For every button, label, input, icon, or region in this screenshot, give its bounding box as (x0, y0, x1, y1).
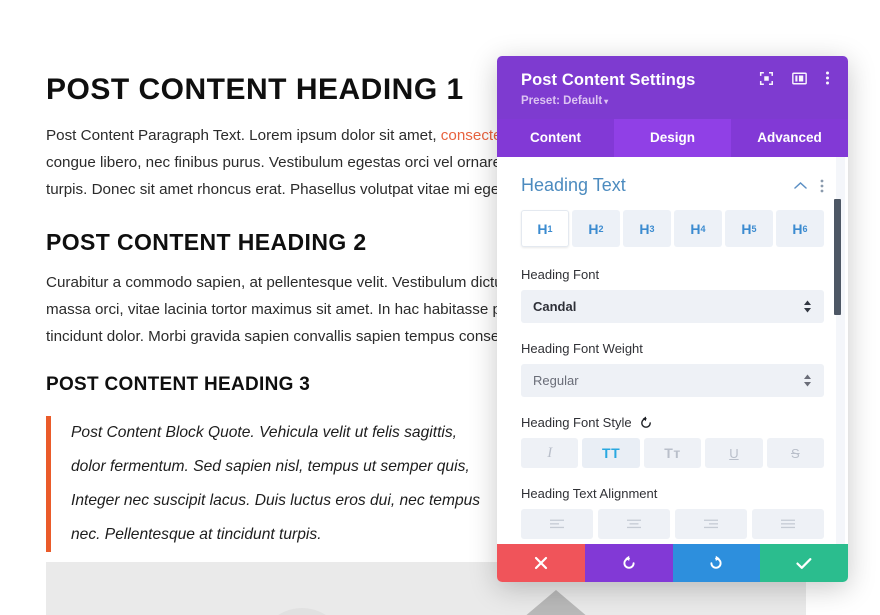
modal-preset-label: Preset: Default (521, 95, 602, 107)
heading-level-h1-button[interactable]: H1 (521, 210, 569, 247)
heading-text-alignment-label: Heading Text Alignment (521, 486, 824, 501)
heading-font-weight-field: Heading Font Weight Regular (521, 341, 824, 397)
tab-advanced[interactable]: Advanced (731, 119, 848, 157)
modal-preset-selector[interactable]: Preset: Default▾ (521, 94, 826, 109)
align-right-icon (703, 519, 719, 530)
heading-font-value: Candal (533, 299, 803, 314)
save-button[interactable] (760, 544, 848, 582)
heading-font-style-label: Heading Font Style (521, 415, 824, 430)
heading-font-weight-value: Regular (533, 373, 803, 388)
heading-font-style-group: I TT Tᴛ U S (521, 438, 824, 468)
section-more-vertical-icon[interactable] (820, 179, 824, 193)
chevron-down-icon: ▾ (604, 97, 608, 106)
paragraph-text-part: Post Content Paragraph Text. Lorem ipsum… (46, 127, 441, 144)
h6-label: H (792, 221, 802, 237)
undo-button[interactable] (585, 544, 673, 582)
heading-text-alignment-field: Heading Text Alignment (521, 486, 824, 539)
redo-button[interactable] (673, 544, 761, 582)
align-center-button[interactable] (598, 509, 670, 539)
section-heading-text: Heading Text (521, 157, 824, 210)
h3-label: H (639, 221, 649, 237)
uppercase-button[interactable]: TT (582, 438, 639, 468)
italic-button[interactable]: I (521, 438, 578, 468)
tab-design[interactable]: Design (614, 119, 731, 157)
heading-level-toggle-group: H1 H2 H3 H4 H5 H6 (521, 210, 824, 247)
h1-label: H (537, 221, 547, 237)
heading-font-field: Heading Font Candal (521, 267, 824, 323)
align-left-icon (549, 519, 565, 530)
cancel-button[interactable] (497, 544, 585, 582)
layout-columns-icon[interactable] (792, 71, 807, 86)
check-icon (796, 557, 812, 570)
screen-root: Post Content Heading 1 Post Content Para… (0, 0, 880, 615)
align-right-button[interactable] (675, 509, 747, 539)
align-justify-icon (780, 519, 796, 530)
placeholder-sun-icon (258, 608, 346, 615)
modal-scrollbar-thumb[interactable] (834, 199, 841, 315)
undo-icon (621, 555, 637, 571)
h6-sub: 6 (803, 224, 808, 234)
modal-body: Heading Text H1 H2 H3 H4 (497, 157, 848, 544)
modal-footer-actions (497, 544, 848, 582)
select-spinner-icon (803, 300, 812, 313)
h4-label: H (690, 221, 700, 237)
redo-icon (708, 555, 724, 571)
small-caps-button[interactable]: Tᴛ (644, 438, 701, 468)
section-title: Heading Text (521, 175, 794, 196)
h3-sub: 3 (650, 224, 655, 234)
section-controls (794, 179, 824, 193)
heading-font-label: Heading Font (521, 267, 824, 282)
heading-font-weight-select[interactable]: Regular (521, 364, 824, 397)
align-center-icon (626, 519, 642, 530)
modal-scrollbar-track[interactable] (836, 157, 845, 544)
placeholder-mountain-icon (426, 590, 686, 615)
heading-level-h5-button[interactable]: H5 (725, 210, 773, 247)
close-icon (534, 556, 548, 570)
heading-level-h2-button[interactable]: H2 (572, 210, 620, 247)
h5-sub: 5 (752, 224, 757, 234)
reset-icon[interactable] (639, 416, 653, 430)
tab-content[interactable]: Content (497, 119, 614, 157)
select-spinner-icon (803, 374, 812, 387)
h2-sub: 2 (599, 224, 604, 234)
h2-label: H (588, 221, 598, 237)
underline-button[interactable]: U (705, 438, 762, 468)
align-justify-button[interactable] (752, 509, 824, 539)
modal-header: Post Content Settings Preset: Default▾ (497, 56, 848, 119)
heading-font-style-field: Heading Font Style I TT Tᴛ U S (521, 415, 824, 468)
h1-sub: 1 (548, 224, 553, 234)
heading-level-h4-button[interactable]: H4 (674, 210, 722, 247)
chevron-up-icon[interactable] (794, 181, 807, 190)
heading-level-h3-button[interactable]: H3 (623, 210, 671, 247)
h5-label: H (741, 221, 751, 237)
h4-sub: 4 (701, 224, 706, 234)
heading-text-alignment-group (521, 509, 824, 539)
modal-tabs: Content Design Advanced (497, 119, 848, 157)
heading-font-style-label-text: Heading Font Style (521, 415, 632, 430)
strikethrough-button[interactable]: S (767, 438, 824, 468)
heading-level-h6-button[interactable]: H6 (776, 210, 824, 247)
post-content-settings-modal: Post Content Settings Preset: Default▾ (497, 56, 848, 582)
align-left-button[interactable] (521, 509, 593, 539)
more-vertical-icon[interactable] (825, 70, 830, 86)
heading-font-select[interactable]: Candal (521, 290, 824, 323)
modal-header-actions (759, 70, 830, 86)
expand-icon[interactable] (759, 71, 774, 86)
heading-font-weight-label: Heading Font Weight (521, 341, 824, 356)
